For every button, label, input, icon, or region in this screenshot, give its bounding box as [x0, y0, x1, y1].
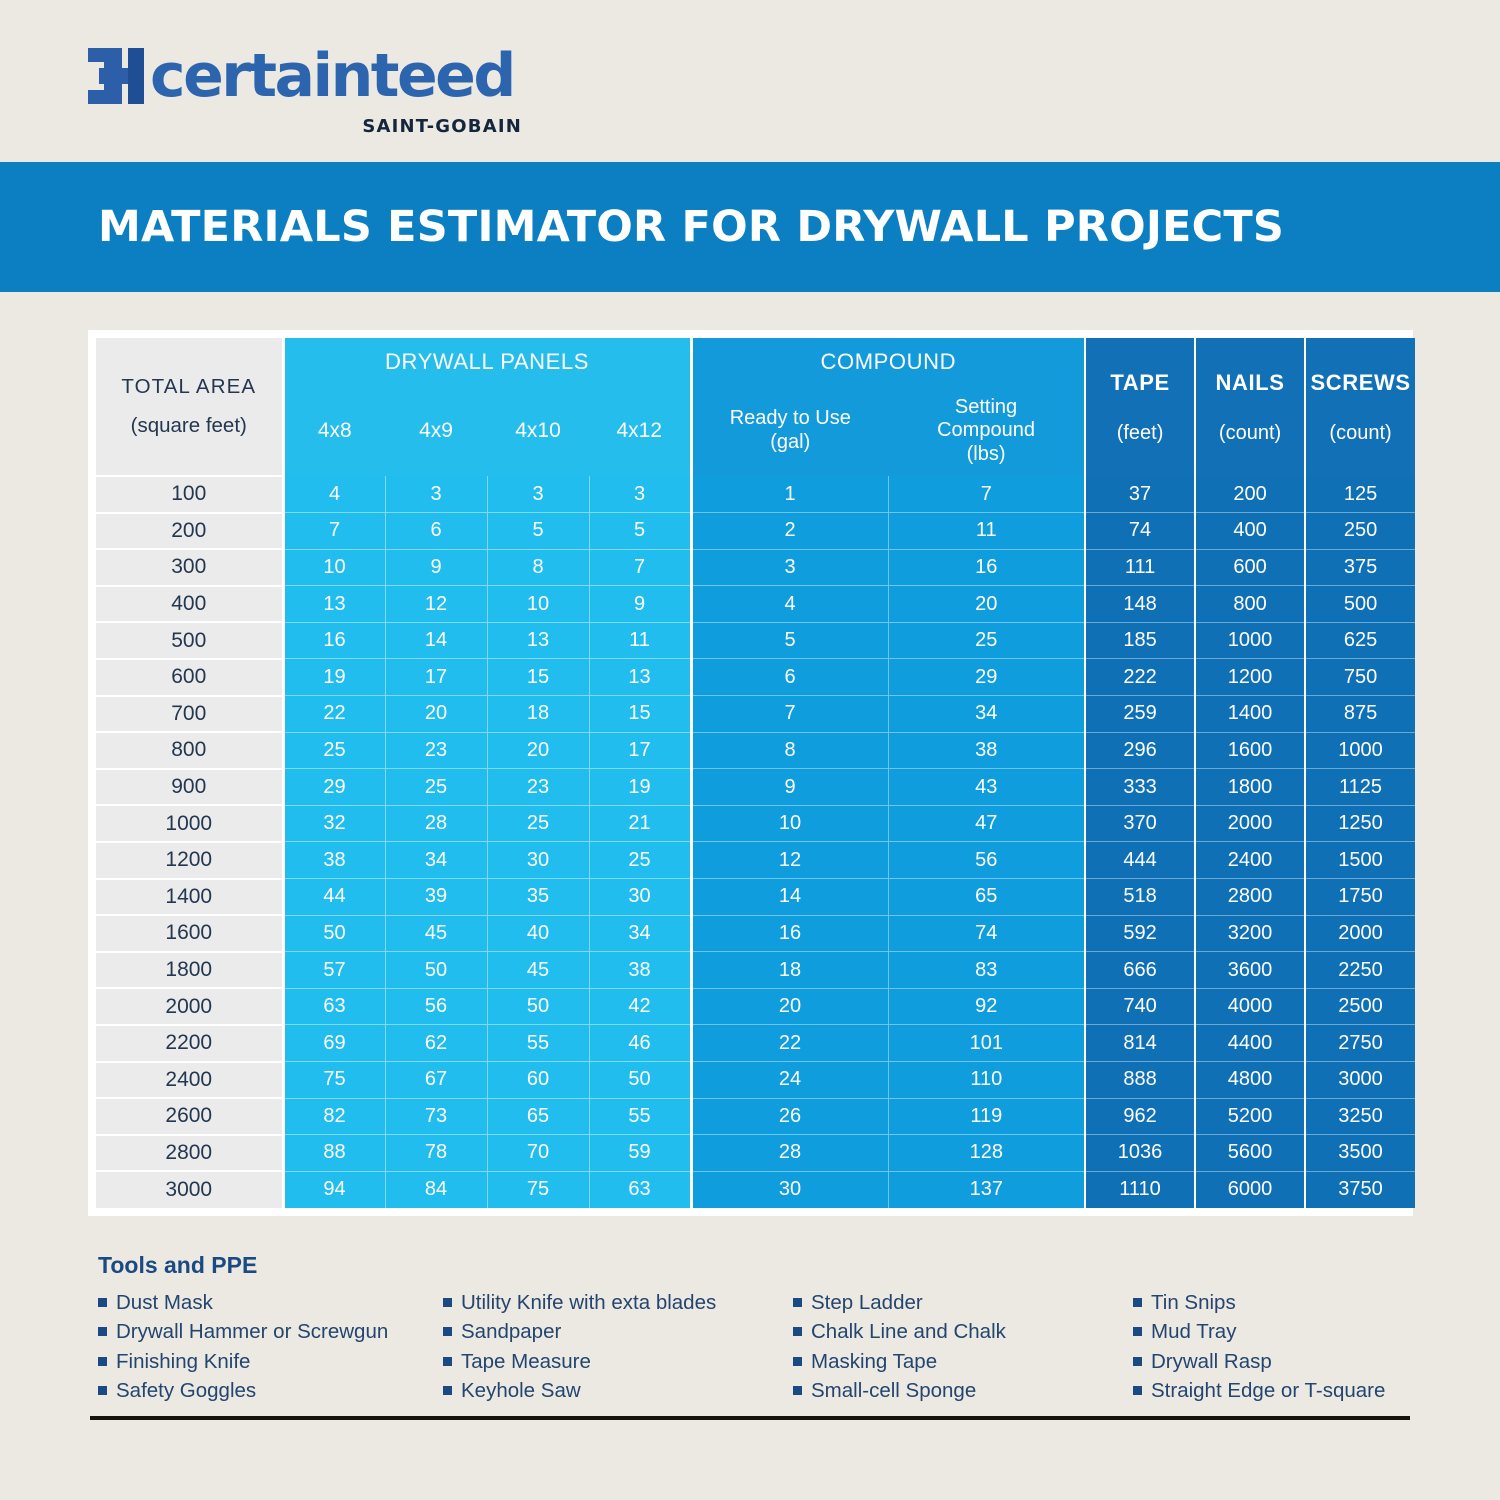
cell-nails: 1600: [1195, 732, 1305, 769]
table-row: 200063565042209274040002500: [96, 988, 1415, 1025]
cell-total-area: 1400: [96, 879, 283, 916]
cell-compound-setting: 25: [888, 622, 1085, 659]
tool-list-item: Sandpaper: [443, 1318, 793, 1345]
cell-nails: 4800: [1195, 1062, 1305, 1099]
bullet-square-icon: [98, 1327, 107, 1336]
table-row: 2200696255462210181444002750: [96, 1025, 1415, 1062]
cell-panels-4x10: 50: [487, 988, 589, 1025]
tool-label: Drywall Hammer or Screwgun: [116, 1318, 388, 1345]
page-title: MATERIALS ESTIMATOR FOR DRYWALL PROJECTS: [98, 202, 1284, 252]
cell-panels-4x10: 40: [487, 915, 589, 952]
tool-list-item: Masking Tape: [793, 1348, 1133, 1375]
cell-panels-4x12: 63: [589, 1171, 691, 1208]
cell-compound-ready-to-use: 3: [691, 549, 888, 586]
cell-panels-4x9: 62: [385, 1025, 487, 1062]
cell-panels-4x8: 88: [283, 1135, 385, 1172]
cell-panels-4x10: 8: [487, 549, 589, 586]
cell-tape: 740: [1085, 988, 1195, 1025]
cell-panels-4x12: 42: [589, 988, 691, 1025]
cell-nails: 6000: [1195, 1171, 1305, 1208]
header-panel-4x8: 4x8: [283, 386, 385, 476]
table-row: 180057504538188366636002250: [96, 952, 1415, 989]
tool-list-item: Utility Knife with exta blades: [443, 1289, 793, 1316]
cell-panels-4x12: 17: [589, 732, 691, 769]
cell-panels-4x12: 11: [589, 622, 691, 659]
tool-label: Chalk Line and Chalk: [811, 1318, 1006, 1345]
cell-nails: 3200: [1195, 915, 1305, 952]
cell-panels-4x8: 63: [283, 988, 385, 1025]
cell-panels-4x10: 75: [487, 1171, 589, 1208]
cell-panels-4x12: 21: [589, 805, 691, 842]
cell-panels-4x12: 15: [589, 696, 691, 733]
cell-panels-4x12: 25: [589, 842, 691, 879]
cell-compound-setting: 20: [888, 586, 1085, 623]
cell-panels-4x10: 23: [487, 769, 589, 806]
cell-panels-4x8: 82: [283, 1098, 385, 1135]
logo-row: certainteed: [88, 42, 688, 110]
cell-compound-setting: 34: [888, 696, 1085, 733]
cell-panels-4x12: 3: [589, 476, 691, 513]
tool-list-item: Tape Measure: [443, 1348, 793, 1375]
tool-list-item: Drywall Rasp: [1133, 1348, 1418, 1375]
tool-label: Small-cell Sponge: [811, 1377, 976, 1404]
tool-list-item: Drywall Hammer or Screwgun: [98, 1318, 443, 1345]
cell-nails: 1000: [1195, 622, 1305, 659]
cell-panels-4x8: 44: [283, 879, 385, 916]
cell-compound-ready-to-use: 4: [691, 586, 888, 623]
cell-panels-4x8: 32: [283, 805, 385, 842]
bullet-square-icon: [98, 1298, 107, 1307]
header-ready-line2: (gal): [693, 431, 889, 455]
cell-tape: 148: [1085, 586, 1195, 623]
cell-tape: 1036: [1085, 1135, 1195, 1172]
cell-panels-4x10: 10: [487, 586, 589, 623]
cell-total-area: 300: [96, 549, 283, 586]
cell-panels-4x9: 9: [385, 549, 487, 586]
tools-column-4: Tin SnipsMud TrayDrywall RaspStraight Ed…: [1133, 1289, 1418, 1407]
cell-screws: 3500: [1305, 1135, 1415, 1172]
cell-screws: 3000: [1305, 1062, 1415, 1099]
cell-nails: 1800: [1195, 769, 1305, 806]
tools-columns: Dust MaskDrywall Hammer or ScrewgunFinis…: [98, 1289, 1418, 1407]
cell-nails: 1200: [1195, 659, 1305, 696]
cell-tape: 444: [1085, 842, 1195, 879]
bullet-square-icon: [443, 1327, 452, 1336]
header-group-drywall-panels: DRYWALL PANELS: [283, 338, 691, 386]
table-row: 200765521174400250: [96, 513, 1415, 550]
cell-screws: 125: [1305, 476, 1415, 513]
tool-list-item: Keyhole Saw: [443, 1377, 793, 1404]
cell-panels-4x12: 50: [589, 1062, 691, 1099]
header-group-compound: COMPOUND: [691, 338, 1085, 386]
cell-screws: 3250: [1305, 1098, 1415, 1135]
brand-parent-name: SAINT-GOBAIN: [88, 116, 522, 137]
cell-total-area: 1800: [96, 952, 283, 989]
cell-nails: 1400: [1195, 696, 1305, 733]
cell-compound-ready-to-use: 20: [691, 988, 888, 1025]
cell-panels-4x9: 23: [385, 732, 487, 769]
cell-panels-4x8: 22: [283, 696, 385, 733]
cell-nails: 600: [1195, 549, 1305, 586]
cell-tape: 888: [1085, 1062, 1195, 1099]
cell-compound-setting: 92: [888, 988, 1085, 1025]
tool-label: Masking Tape: [811, 1348, 937, 1375]
table-row: 160050454034167459232002000: [96, 915, 1415, 952]
cell-compound-setting: 47: [888, 805, 1085, 842]
bullet-square-icon: [1133, 1386, 1142, 1395]
bullet-square-icon: [1133, 1357, 1142, 1366]
cell-total-area: 700: [96, 696, 283, 733]
cell-compound-ready-to-use: 18: [691, 952, 888, 989]
cell-panels-4x9: 6: [385, 513, 487, 550]
cell-panels-4x8: 29: [283, 769, 385, 806]
cell-total-area: 1000: [96, 805, 283, 842]
tool-list-item: Mud Tray: [1133, 1318, 1418, 1345]
brand-wordmark: certainteed: [150, 46, 514, 106]
cell-total-area: 900: [96, 769, 283, 806]
cell-panels-4x12: 13: [589, 659, 691, 696]
cell-tape: 370: [1085, 805, 1195, 842]
table-body: 1004333173720012520076552117440025030010…: [96, 476, 1415, 1208]
cell-panels-4x9: 20: [385, 696, 487, 733]
cell-compound-setting: 128: [888, 1135, 1085, 1172]
title-banner: MATERIALS ESTIMATOR FOR DRYWALL PROJECTS: [0, 162, 1500, 292]
cell-screws: 750: [1305, 659, 1415, 696]
tool-list-item: Straight Edge or T-square: [1133, 1377, 1418, 1404]
cell-total-area: 200: [96, 513, 283, 550]
tool-label: Sandpaper: [461, 1318, 561, 1345]
cell-compound-setting: 11: [888, 513, 1085, 550]
header-screws-title: SCREWS: [1306, 370, 1415, 396]
cell-compound-setting: 56: [888, 842, 1085, 879]
cell-compound-setting: 137: [888, 1171, 1085, 1208]
cell-screws: 875: [1305, 696, 1415, 733]
cell-compound-setting: 101: [888, 1025, 1085, 1062]
cell-tape: 222: [1085, 659, 1195, 696]
cell-panels-4x9: 78: [385, 1135, 487, 1172]
cell-compound-ready-to-use: 12: [691, 842, 888, 879]
tool-label: Straight Edge or T-square: [1151, 1377, 1385, 1404]
cell-panels-4x12: 46: [589, 1025, 691, 1062]
tool-list-item: Dust Mask: [98, 1289, 443, 1316]
cell-panels-4x9: 14: [385, 622, 487, 659]
cell-panels-4x9: 25: [385, 769, 487, 806]
cell-tape: 111: [1085, 549, 1195, 586]
cell-panels-4x8: 57: [283, 952, 385, 989]
cell-nails: 4000: [1195, 988, 1305, 1025]
table-row: 30009484756330137111060003750: [96, 1171, 1415, 1208]
header-screws: SCREWS (count): [1305, 338, 1415, 476]
cell-panels-4x8: 7: [283, 513, 385, 550]
tool-list-item: Safety Goggles: [98, 1377, 443, 1404]
header-row-groups: TOTAL AREA (square feet) DRYWALL PANELS …: [96, 338, 1415, 386]
cell-total-area: 2200: [96, 1025, 283, 1062]
header-total-area-line1: TOTAL AREA: [96, 368, 282, 407]
cell-compound-setting: 119: [888, 1098, 1085, 1135]
cell-total-area: 2600: [96, 1098, 283, 1135]
cell-panels-4x10: 3: [487, 476, 589, 513]
cell-panels-4x12: 9: [589, 586, 691, 623]
cell-nails: 200: [1195, 476, 1305, 513]
cell-panels-4x10: 55: [487, 1025, 589, 1062]
cell-panels-4x10: 20: [487, 732, 589, 769]
cell-panels-4x8: 10: [283, 549, 385, 586]
bullet-square-icon: [1133, 1327, 1142, 1336]
header-screws-unit: (count): [1306, 422, 1415, 445]
header-panel-4x10: 4x10: [487, 386, 589, 476]
cell-compound-ready-to-use: 22: [691, 1025, 888, 1062]
cell-total-area: 600: [96, 659, 283, 696]
cell-panels-4x10: 30: [487, 842, 589, 879]
tool-list-item: Step Ladder: [793, 1289, 1133, 1316]
cell-screws: 2750: [1305, 1025, 1415, 1062]
cell-total-area: 3000: [96, 1171, 283, 1208]
bullet-square-icon: [793, 1298, 802, 1307]
tools-section-title: Tools and PPE: [98, 1252, 1418, 1279]
cell-compound-ready-to-use: 6: [691, 659, 888, 696]
cell-tape: 814: [1085, 1025, 1195, 1062]
cell-panels-4x9: 67: [385, 1062, 487, 1099]
bullet-square-icon: [443, 1386, 452, 1395]
certainteed-mark-icon: [88, 48, 144, 104]
bullet-square-icon: [793, 1386, 802, 1395]
cell-panels-4x9: 28: [385, 805, 487, 842]
header-tape-title: TAPE: [1086, 370, 1194, 396]
cell-panels-4x8: 13: [283, 586, 385, 623]
table-row: 140044393530146551828001750: [96, 879, 1415, 916]
cell-screws: 2250: [1305, 952, 1415, 989]
cell-total-area: 1200: [96, 842, 283, 879]
cell-tape: 962: [1085, 1098, 1195, 1135]
cell-compound-setting: 74: [888, 915, 1085, 952]
cell-screws: 1000: [1305, 732, 1415, 769]
cell-compound-setting: 83: [888, 952, 1085, 989]
header-total-area: TOTAL AREA (square feet): [96, 338, 283, 476]
cell-panels-4x10: 13: [487, 622, 589, 659]
header-compound-ready-to-use: Ready to Use (gal): [691, 386, 888, 476]
table-head: TOTAL AREA (square feet) DRYWALL PANELS …: [96, 338, 1415, 476]
tool-list-item: Finishing Knife: [98, 1348, 443, 1375]
cell-compound-ready-to-use: 30: [691, 1171, 888, 1208]
table-row: 30010987316111600375: [96, 549, 1415, 586]
cell-screws: 625: [1305, 622, 1415, 659]
infographic-page: certainteed SAINT-GOBAIN MATERIALS ESTIM…: [0, 0, 1500, 1500]
cell-tape: 185: [1085, 622, 1195, 659]
cell-nails: 2800: [1195, 879, 1305, 916]
cell-screws: 2000: [1305, 915, 1415, 952]
cell-panels-4x8: 38: [283, 842, 385, 879]
cell-panels-4x12: 7: [589, 549, 691, 586]
cell-nails: 400: [1195, 513, 1305, 550]
cell-panels-4x12: 30: [589, 879, 691, 916]
tool-label: Keyhole Saw: [461, 1377, 581, 1404]
cell-panels-4x9: 84: [385, 1171, 487, 1208]
tool-list-item: Chalk Line and Chalk: [793, 1318, 1133, 1345]
cell-panels-4x9: 45: [385, 915, 487, 952]
table-row: 28008878705928128103656003500: [96, 1135, 1415, 1172]
cell-compound-setting: 43: [888, 769, 1085, 806]
cell-tape: 296: [1085, 732, 1195, 769]
header-panel-4x12: 4x12: [589, 386, 691, 476]
cell-total-area: 2400: [96, 1062, 283, 1099]
cell-panels-4x8: 19: [283, 659, 385, 696]
cell-panels-4x12: 59: [589, 1135, 691, 1172]
cell-compound-ready-to-use: 28: [691, 1135, 888, 1172]
cell-nails: 4400: [1195, 1025, 1305, 1062]
cell-panels-4x8: 50: [283, 915, 385, 952]
cell-panels-4x8: 4: [283, 476, 385, 513]
cell-nails: 800: [1195, 586, 1305, 623]
header-setting-line1: Setting: [888, 396, 1084, 420]
tool-label: Drywall Rasp: [1151, 1348, 1272, 1375]
cell-panels-4x8: 69: [283, 1025, 385, 1062]
tool-label: Step Ladder: [811, 1289, 923, 1316]
cell-compound-ready-to-use: 7: [691, 696, 888, 733]
cell-panels-4x9: 56: [385, 988, 487, 1025]
cell-tape: 1110: [1085, 1171, 1195, 1208]
cell-compound-setting: 29: [888, 659, 1085, 696]
table-row: 10043331737200125: [96, 476, 1415, 513]
cell-screws: 1500: [1305, 842, 1415, 879]
cell-panels-4x10: 70: [487, 1135, 589, 1172]
cell-panels-4x9: 34: [385, 842, 487, 879]
cell-compound-setting: 16: [888, 549, 1085, 586]
cell-panels-4x9: 39: [385, 879, 487, 916]
tool-label: Safety Goggles: [116, 1377, 256, 1404]
cell-nails: 5600: [1195, 1135, 1305, 1172]
cell-compound-ready-to-use: 2: [691, 513, 888, 550]
tool-label: Dust Mask: [116, 1289, 213, 1316]
cell-panels-4x10: 18: [487, 696, 589, 733]
cell-compound-ready-to-use: 9: [691, 769, 888, 806]
cell-tape: 259: [1085, 696, 1195, 733]
cell-total-area: 2800: [96, 1135, 283, 1172]
tools-column-3: Step LadderChalk Line and ChalkMasking T…: [793, 1289, 1133, 1407]
table-row: 2600827365552611996252003250: [96, 1098, 1415, 1135]
tool-list-item: Tin Snips: [1133, 1289, 1418, 1316]
table-row: 9002925231994333318001125: [96, 769, 1415, 806]
bullet-square-icon: [98, 1357, 107, 1366]
cell-panels-4x12: 19: [589, 769, 691, 806]
bullet-square-icon: [1133, 1298, 1142, 1307]
cell-panels-4x10: 5: [487, 513, 589, 550]
cell-screws: 500: [1305, 586, 1415, 623]
tools-column-2: Utility Knife with exta bladesSandpaperT…: [443, 1289, 793, 1407]
header-nails-title: NAILS: [1196, 370, 1304, 396]
cell-panels-4x10: 15: [487, 659, 589, 696]
cell-compound-setting: 38: [888, 732, 1085, 769]
header-nails-unit: (count): [1196, 422, 1304, 445]
cell-panels-4x9: 17: [385, 659, 487, 696]
cell-panels-4x8: 75: [283, 1062, 385, 1099]
table-row: 600191715136292221200750: [96, 659, 1415, 696]
cell-panels-4x10: 60: [487, 1062, 589, 1099]
cell-panels-4x9: 50: [385, 952, 487, 989]
cell-total-area: 1600: [96, 915, 283, 952]
cell-nails: 3600: [1195, 952, 1305, 989]
materials-estimator-table: TOTAL AREA (square feet) DRYWALL PANELS …: [96, 338, 1415, 1208]
header-total-area-line2: (square feet): [96, 407, 282, 446]
tool-label: Tin Snips: [1151, 1289, 1236, 1316]
cell-total-area: 100: [96, 476, 283, 513]
tools-and-ppe-section: Tools and PPE Dust MaskDrywall Hammer or…: [98, 1252, 1418, 1407]
cell-screws: 2500: [1305, 988, 1415, 1025]
bullet-square-icon: [793, 1327, 802, 1336]
cell-compound-setting: 7: [888, 476, 1085, 513]
header-ready-line1: Ready to Use: [693, 407, 889, 431]
brand-logo: certainteed SAINT-GOBAIN: [88, 42, 688, 142]
cell-panels-4x12: 38: [589, 952, 691, 989]
cell-panels-4x12: 34: [589, 915, 691, 952]
cell-nails: 5200: [1195, 1098, 1305, 1135]
estimator-table-frame: TOTAL AREA (square feet) DRYWALL PANELS …: [88, 330, 1413, 1216]
bullet-square-icon: [793, 1357, 802, 1366]
table-row: 4001312109420148800500: [96, 586, 1415, 623]
tools-column-1: Dust MaskDrywall Hammer or ScrewgunFinis…: [98, 1289, 443, 1407]
cell-compound-ready-to-use: 26: [691, 1098, 888, 1135]
cell-screws: 1750: [1305, 879, 1415, 916]
cell-compound-ready-to-use: 14: [691, 879, 888, 916]
cell-screws: 1250: [1305, 805, 1415, 842]
cell-screws: 250: [1305, 513, 1415, 550]
tool-list-item: Small-cell Sponge: [793, 1377, 1133, 1404]
bullet-square-icon: [443, 1357, 452, 1366]
cell-total-area: 800: [96, 732, 283, 769]
cell-panels-4x8: 25: [283, 732, 385, 769]
tool-label: Tape Measure: [461, 1348, 591, 1375]
header-compound-setting: Setting Compound (lbs): [888, 386, 1085, 476]
header-setting-line2: Compound: [888, 419, 1084, 443]
cell-nails: 2000: [1195, 805, 1305, 842]
cell-compound-ready-to-use: 10: [691, 805, 888, 842]
cell-total-area: 2000: [96, 988, 283, 1025]
cell-tape: 592: [1085, 915, 1195, 952]
bullet-square-icon: [443, 1298, 452, 1307]
cell-compound-setting: 110: [888, 1062, 1085, 1099]
bottom-divider: [90, 1416, 1410, 1420]
cell-compound-ready-to-use: 24: [691, 1062, 888, 1099]
cell-panels-4x10: 25: [487, 805, 589, 842]
cell-screws: 375: [1305, 549, 1415, 586]
cell-compound-ready-to-use: 16: [691, 915, 888, 952]
header-tape-unit: (feet): [1086, 422, 1194, 445]
table-row: 120038343025125644424001500: [96, 842, 1415, 879]
cell-screws: 1125: [1305, 769, 1415, 806]
table-row: 100032282521104737020001250: [96, 805, 1415, 842]
cell-compound-ready-to-use: 5: [691, 622, 888, 659]
cell-panels-4x10: 65: [487, 1098, 589, 1135]
header-panel-4x9: 4x9: [385, 386, 487, 476]
table-row: 2400756760502411088848003000: [96, 1062, 1415, 1099]
table-row: 500161413115251851000625: [96, 622, 1415, 659]
tool-label: Mud Tray: [1151, 1318, 1236, 1345]
cell-tape: 37: [1085, 476, 1195, 513]
cell-tape: 333: [1085, 769, 1195, 806]
cell-compound-setting: 65: [888, 879, 1085, 916]
bullet-square-icon: [98, 1386, 107, 1395]
cell-compound-ready-to-use: 8: [691, 732, 888, 769]
cell-panels-4x9: 3: [385, 476, 487, 513]
cell-screws: 3750: [1305, 1171, 1415, 1208]
table-row: 700222018157342591400875: [96, 696, 1415, 733]
header-nails: NAILS (count): [1195, 338, 1305, 476]
cell-panels-4x8: 16: [283, 622, 385, 659]
tool-label: Finishing Knife: [116, 1348, 250, 1375]
tool-label: Utility Knife with exta blades: [461, 1289, 716, 1316]
cell-tape: 518: [1085, 879, 1195, 916]
cell-panels-4x8: 94: [283, 1171, 385, 1208]
cell-tape: 74: [1085, 513, 1195, 550]
